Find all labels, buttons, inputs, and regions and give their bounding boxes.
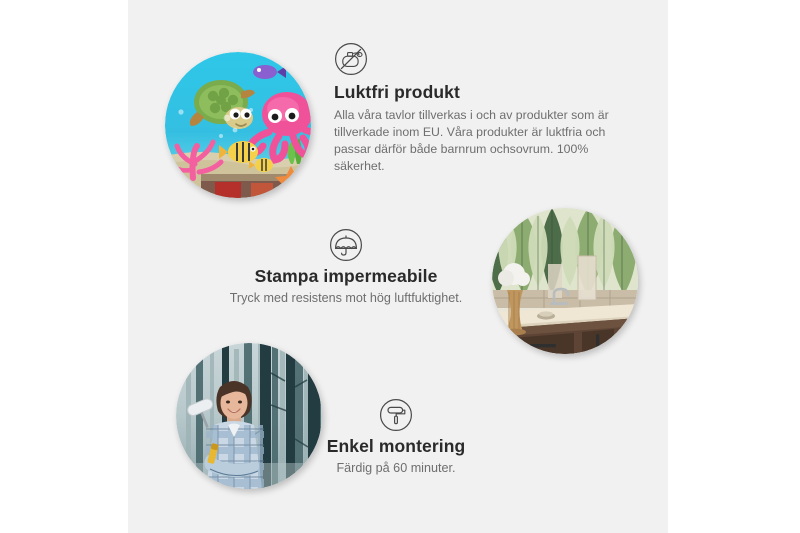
feature-title: Stampa impermeabile — [210, 266, 482, 287]
feature-odourless: Luktfri produkt Alla våra tavlor tillver… — [334, 42, 634, 175]
photo-bathroom-botanical-mural — [492, 208, 638, 354]
promo-banner: Luktfri produkt Alla våra tavlor tillver… — [0, 0, 800, 533]
photo-underwater-kids-mural — [165, 52, 311, 198]
feature-body: Tryck med resistens mot hög luftfuktighe… — [210, 290, 482, 307]
feature-title: Enkel montering — [290, 436, 502, 457]
no-fragrance-icon — [334, 42, 368, 76]
feature-title: Luktfri produkt — [334, 82, 634, 103]
umbrella-icon — [329, 228, 363, 262]
feature-waterproof: Stampa impermeabile Tryck med resistens … — [210, 228, 482, 307]
feature-easy-mounting: Enkel montering Färdig på 60 minuter. — [290, 398, 502, 477]
feature-body: Alla våra tavlor tillverkas i och av pro… — [334, 107, 622, 175]
feature-body: Färdig på 60 minuter. — [290, 460, 502, 477]
paint-roller-icon — [379, 398, 413, 432]
